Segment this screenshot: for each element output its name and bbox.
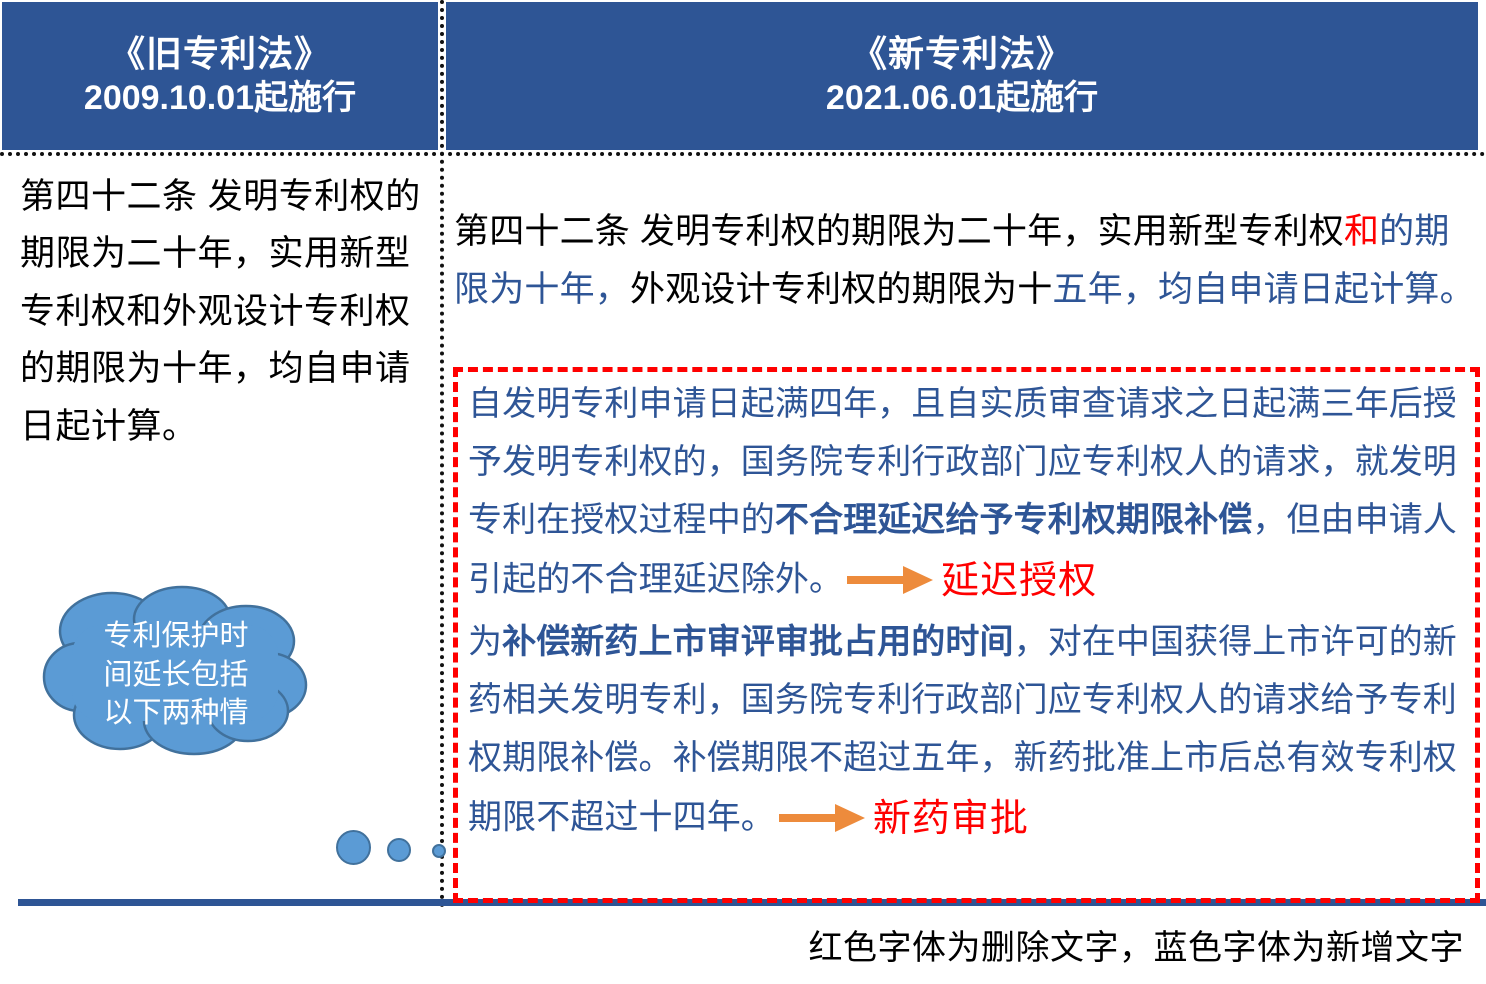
old-law-effective-date: 2009.10.01起施行 <box>84 76 356 122</box>
para1-seg-4-added: 五年，均自申请日起计算。 <box>1052 270 1474 309</box>
box-para-a-seg-1-bold: 不合理延迟给予专利权期限补偿 <box>775 501 1252 539</box>
callout-trail-dot-medium <box>387 838 411 862</box>
old-law-column: 第四十二条 发明专利权的期限为二十年，实用新型专利权和外观设计专利权的期限为十年… <box>0 160 438 900</box>
para1-seg-1-deleted: 和 <box>1344 212 1379 251</box>
callout-trail-dot-small <box>432 844 446 858</box>
annotation-delayed-grant: 延迟授权 <box>843 549 1097 614</box>
annotation-label-drug-approval: 新药审批 <box>873 798 1029 840</box>
law-comparison-table: 《旧专利法》 2009.10.01起施行 《新专利法》 2021.06.01起施… <box>0 0 1486 908</box>
highlight-box-new-provisions: 自发明专利申请日起满四年，且自实质审查请求之日起满三年后授予发明专利权的，国务院… <box>453 367 1480 903</box>
old-law-title: 《旧专利法》 <box>109 31 331 76</box>
para1-seg-0: 第四十二条 发明专利权的期限为二十年，实用新型专利权 <box>454 212 1344 251</box>
cloud-shape-icon <box>42 585 310 760</box>
new-law-title: 《新专利法》 <box>851 31 1073 76</box>
right-arrow-icon <box>779 794 865 824</box>
table-header-row: 《旧专利法》 2009.10.01起施行 《新专利法》 2021.06.01起施… <box>0 0 1486 152</box>
old-law-body-text: 第四十二条 发明专利权的期限为二十年，实用新型专利权和外观设计专利权的期限为十年… <box>20 168 428 455</box>
annotation-label-delayed-grant: 延迟授权 <box>941 560 1097 602</box>
header-cell-new-law: 《新专利法》 2021.06.01起施行 <box>446 2 1478 150</box>
thought-cloud-callout: 专利保护时 间延长包括 以下两种情 <box>42 585 310 760</box>
new-law-column: 第四十二条 发明专利权的期限为二十年，实用新型专利权和的期限为十年，外观设计专利… <box>446 160 1486 900</box>
header-cell-old-law: 《旧专利法》 2009.10.01起施行 <box>2 2 438 150</box>
color-legend-note: 红色字体为删除文字，蓝色字体为新增文字 <box>0 920 1486 969</box>
right-arrow-icon <box>847 556 933 586</box>
new-law-effective-date: 2021.06.01起施行 <box>826 76 1098 122</box>
para1-seg-3: 外观设计专利权的期限为十 <box>630 270 1052 309</box>
new-law-paragraph-1: 第四十二条 发明专利权的期限为二十年，实用新型专利权和的期限为十年，外观设计专利… <box>454 203 1480 319</box>
box-para-b-seg-0: 为 <box>468 623 502 661</box>
header-bottom-divider <box>0 152 1486 156</box>
box-para-b-seg-1-bold: 补偿新药上市审评审批占用的时间 <box>502 623 1014 661</box>
column-divider <box>440 0 444 908</box>
annotation-drug-approval: 新药审批 <box>775 787 1029 852</box>
callout-trail-dot-large <box>336 830 371 865</box>
highlight-box-content: 自发明专利申请日起满四年，且自实质审查请求之日起满三年后授予发明专利权的，国务院… <box>468 376 1473 852</box>
